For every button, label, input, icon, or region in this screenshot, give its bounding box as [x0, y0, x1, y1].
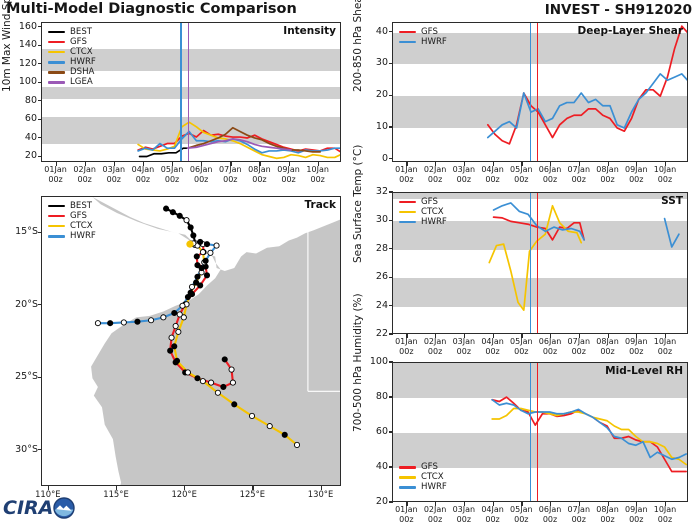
track-marker-filled: [204, 242, 209, 247]
y-tick-label: 40: [14, 132, 37, 143]
legend-label: HWRF: [421, 38, 447, 47]
track-map-area[interactable]: Track BESTGFSCTCXHWRF: [41, 196, 341, 486]
track-marker-hollow: [184, 218, 189, 223]
sst-panel-tag: SST: [661, 195, 683, 207]
x-tick-mark: [608, 502, 609, 506]
legend-entry-hwrf: HWRF: [48, 232, 96, 242]
series-line-hwrf-late: [665, 219, 679, 247]
x-tick-mark: [318, 162, 319, 166]
current-position-marker: [186, 241, 193, 248]
y-tick-label: 80: [365, 391, 388, 402]
track-marker-filled: [174, 358, 179, 363]
track-marker-filled: [203, 258, 208, 263]
intensity-plot-area[interactable]: Intensity BESTGFSCTCXHWRFDSHALGEA: [41, 22, 341, 162]
x-tick-mark: [406, 334, 407, 338]
x-tick-mark: [435, 502, 436, 506]
x-tick-mark: [521, 334, 522, 338]
track-panel-tag: Track: [305, 199, 336, 211]
y-tick-label: 60: [14, 113, 37, 124]
track-marker-hollow: [229, 367, 234, 372]
vertical-reference-line: [530, 193, 531, 333]
track-legend: BESTGFSCTCXHWRF: [48, 201, 96, 242]
y-tick-mark: [389, 63, 393, 64]
legend-entry-best: BEST: [48, 27, 96, 37]
x-tick-mark: [259, 162, 260, 166]
x-tick-mark: [435, 162, 436, 166]
x-tick-mark: [464, 334, 465, 338]
x-tick-mark: [579, 162, 580, 166]
track-marker-filled: [221, 384, 226, 389]
x-tick-label: 10Jan00z: [645, 337, 685, 357]
legend-label: GFS: [421, 28, 438, 37]
x-tick-mark: [230, 162, 231, 166]
track-marker-filled: [177, 213, 182, 218]
longitude-tick-mark: [48, 486, 49, 490]
y-tick-label: 20: [365, 89, 388, 100]
legend-entry-ctcx: CTCX: [48, 221, 96, 231]
x-tick-mark: [521, 162, 522, 166]
track-marker-filled: [108, 321, 113, 326]
landmass-shape: [91, 197, 341, 486]
track-marker-hollow: [148, 318, 153, 323]
x-tick-mark: [493, 334, 494, 338]
y-tick-mark: [389, 126, 393, 127]
track-marker-hollow: [185, 370, 190, 375]
x-tick-label: 10Jan00z: [645, 505, 685, 525]
longitude-tick-mark: [184, 486, 185, 490]
y-tick-mark: [38, 45, 42, 46]
legend-label: DSHA: [70, 68, 94, 77]
y-tick-label: 24: [365, 300, 388, 311]
sst-plot-area[interactable]: SST GFSCTCXHWRF: [392, 192, 688, 334]
track-marker-hollow: [249, 413, 254, 418]
shear-panel-tag: Deep-Layer Shear: [577, 25, 683, 37]
y-tick-mark: [389, 158, 393, 159]
latitude-tick-mark: [38, 377, 42, 378]
y-tick-label: 10: [365, 121, 388, 132]
y-tick-label: 0: [365, 153, 388, 164]
x-tick-mark: [464, 162, 465, 166]
legend-label: LGEA: [70, 78, 93, 87]
y-tick-label: 32: [365, 186, 388, 197]
longitude-tick-label: 130°E: [299, 489, 343, 499]
intensity-legend: BESTGFSCTCXHWRFDSHALGEA: [48, 27, 96, 88]
y-tick-label: 20: [365, 496, 388, 507]
x-tick-mark: [172, 162, 173, 166]
legend-label: GFS: [421, 198, 438, 207]
latitude-tick-mark: [38, 449, 42, 450]
y-tick-label: 100: [365, 356, 388, 367]
legend-entry-hwrf: HWRF: [399, 483, 447, 493]
x-tick-mark: [493, 502, 494, 506]
y-tick-label: 28: [365, 243, 388, 254]
legend-entry-gfs: GFS: [399, 27, 447, 37]
track-marker-filled: [222, 357, 227, 362]
longitude-tick-mark: [116, 486, 117, 490]
vertical-reference-line: [537, 363, 538, 501]
series-line-hwrf: [488, 74, 688, 138]
longitude-tick-mark: [321, 486, 322, 490]
y-tick-mark: [38, 63, 42, 64]
track-marker-hollow: [208, 380, 213, 385]
y-tick-label: 100: [14, 76, 37, 87]
track-marker-filled: [188, 225, 193, 230]
y-tick-mark: [389, 248, 393, 249]
legend-label: CTCX: [70, 222, 93, 231]
x-tick-mark: [636, 162, 637, 166]
vertical-reference-line: [188, 23, 189, 161]
latitude-tick-label: 20°S: [8, 299, 38, 310]
legend-label: GFS: [421, 463, 438, 472]
legend-color-swatch: [48, 215, 65, 218]
y-tick-label: 30: [365, 214, 388, 225]
legend-entry-lgea: LGEA: [48, 78, 96, 88]
series-line-ctcx: [492, 409, 686, 465]
y-tick-mark: [38, 119, 42, 120]
y-tick-label: 120: [14, 58, 37, 69]
x-tick-mark: [114, 162, 115, 166]
track-marker-filled: [198, 239, 203, 244]
legend-label: BEST: [70, 28, 92, 37]
legend-entry-gfs: GFS: [48, 37, 96, 47]
track-marker-filled: [135, 319, 140, 324]
x-tick-mark: [435, 334, 436, 338]
track-marker-filled: [282, 432, 287, 437]
x-tick-mark: [289, 162, 290, 166]
y-tick-label: 20: [14, 150, 37, 161]
y-tick-mark: [38, 156, 42, 157]
legend-color-swatch: [48, 41, 65, 44]
y-tick-mark: [389, 95, 393, 96]
legend-color-swatch: [399, 466, 416, 469]
longitude-tick-label: 120°E: [162, 489, 206, 499]
x-tick-mark: [143, 162, 144, 166]
y-tick-mark: [389, 305, 393, 306]
x-tick-mark: [608, 162, 609, 166]
y-tick-label: 160: [14, 21, 37, 32]
longitude-tick-label: 110°E: [26, 489, 70, 499]
track-marker-hollow: [294, 442, 299, 447]
y-tick-mark: [38, 26, 42, 27]
track-marker-hollow: [208, 250, 213, 255]
y-tick-mark: [389, 501, 393, 502]
x-tick-mark: [464, 502, 465, 506]
storm-id-title: INVEST - SH912020: [545, 2, 692, 18]
longitude-tick-label: 125°E: [230, 489, 274, 499]
track-marker-hollow: [176, 329, 181, 334]
legend-entry-ctcx: CTCX: [399, 207, 447, 217]
latitude-tick-label: 25°S: [8, 371, 38, 382]
track-marker-filled: [172, 344, 177, 349]
legend-color-swatch: [399, 476, 416, 479]
svg-text:CIRA: CIRA: [3, 497, 53, 519]
rh-panel-tag: Mid-Level RH: [605, 365, 683, 377]
x-tick-mark: [579, 502, 580, 506]
y-tick-mark: [389, 333, 393, 334]
y-tick-label: 26: [365, 271, 388, 282]
track-marker-hollow: [180, 303, 185, 308]
legend-color-swatch: [48, 205, 65, 208]
latitude-tick-label: 15°S: [8, 226, 38, 237]
legend-entry-gfs: GFS: [399, 197, 447, 207]
legend-color-swatch: [399, 211, 416, 214]
track-marker-hollow: [200, 379, 205, 384]
legend-color-swatch: [48, 61, 65, 64]
track-marker-filled: [193, 280, 198, 285]
legend-label: CTCX: [421, 473, 444, 482]
legend-label: CTCX: [70, 48, 93, 57]
track-marker-filled: [199, 265, 204, 270]
legend-label: HWRF: [70, 58, 96, 67]
x-tick-mark: [56, 162, 57, 166]
x-tick-mark: [521, 502, 522, 506]
legend-label: GFS: [70, 212, 87, 221]
y-tick-label: 40: [365, 461, 388, 472]
latitude-tick-mark: [38, 232, 42, 233]
y-tick-mark: [389, 191, 393, 192]
y-tick-mark: [389, 396, 393, 397]
legend-label: HWRF: [70, 232, 96, 241]
legend-entry-ctcx: CTCX: [48, 47, 96, 57]
longitude-tick-label: 115°E: [94, 489, 138, 499]
x-tick-mark: [665, 502, 666, 506]
latitude-tick-mark: [38, 304, 42, 305]
x-tick-mark: [665, 334, 666, 338]
diagnostic-comparison-figure: Multi-Model Diagnostic Comparison INVEST…: [0, 0, 700, 525]
track-marker-filled: [191, 233, 196, 238]
track-marker-filled: [170, 210, 175, 215]
series-line-hwrf: [494, 203, 585, 240]
x-tick-mark: [85, 162, 86, 166]
track-marker-hollow: [189, 284, 194, 289]
track-marker-filled: [172, 310, 177, 315]
legend-color-swatch: [48, 235, 65, 238]
legend-label: BEST: [70, 202, 92, 211]
legend-entry-gfs: GFS: [399, 462, 447, 472]
track-marker-hollow: [230, 380, 235, 385]
vertical-reference-line: [180, 23, 181, 161]
y-tick-mark: [389, 220, 393, 221]
legend-color-swatch: [399, 486, 416, 489]
legend-label: CTCX: [421, 208, 444, 217]
y-tick-label: 22: [365, 328, 388, 339]
track-marker-hollow: [121, 320, 126, 325]
legend-entry-dsha: DSHA: [48, 68, 96, 78]
legend-label: HWRF: [421, 483, 447, 492]
series-line-ctcx: [489, 206, 581, 310]
track-marker-filled: [168, 348, 173, 353]
y-tick-label: 60: [365, 426, 388, 437]
latitude-tick-label: 30°S: [8, 444, 38, 455]
vertical-reference-line: [530, 23, 531, 161]
x-tick-mark: [636, 502, 637, 506]
x-tick-mark: [608, 334, 609, 338]
x-tick-label: 10Jan00z: [298, 165, 338, 185]
y-tick-mark: [389, 277, 393, 278]
legend-entry-ctcx: CTCX: [399, 473, 447, 483]
rh-legend: GFSCTCXHWRF: [399, 462, 447, 493]
y-tick-mark: [38, 100, 42, 101]
y-tick-mark: [389, 466, 393, 467]
x-tick-mark: [550, 162, 551, 166]
x-tick-mark: [493, 162, 494, 166]
track-marker-hollow: [95, 321, 100, 326]
track-marker-filled: [232, 402, 237, 407]
legend-color-swatch: [48, 81, 65, 84]
track-marker-filled: [185, 294, 190, 299]
y-tick-mark: [38, 137, 42, 138]
legend-color-swatch: [399, 221, 416, 224]
vertical-reference-line: [537, 193, 538, 333]
track-marker-hollow: [181, 315, 186, 320]
y-tick-label: 40: [365, 26, 388, 37]
shear-plot-area[interactable]: Deep-Layer Shear GFSHWRF: [392, 22, 688, 162]
longitude-tick-mark: [252, 486, 253, 490]
legend-entry-hwrf: HWRF: [48, 58, 96, 68]
track-marker-hollow: [173, 323, 178, 328]
track-marker-hollow: [267, 424, 272, 429]
y-tick-mark: [389, 361, 393, 362]
vertical-reference-line: [530, 363, 531, 501]
x-tick-label: 10Jan00z: [645, 165, 685, 185]
x-tick-mark: [406, 162, 407, 166]
legend-color-swatch: [399, 31, 416, 34]
track-marker-hollow: [215, 390, 220, 395]
y-tick-mark: [38, 82, 42, 83]
legend-color-swatch: [48, 71, 65, 74]
legend-entry-hwrf: HWRF: [399, 217, 447, 227]
y-tick-label: 140: [14, 39, 37, 50]
track-marker-filled: [163, 206, 168, 211]
legend-label: GFS: [70, 38, 87, 47]
track-marker-hollow: [200, 250, 205, 255]
legend-color-swatch: [399, 41, 416, 44]
intensity-panel-tag: Intensity: [283, 25, 336, 37]
track-marker-hollow: [161, 315, 166, 320]
y-tick-label: 30: [365, 57, 388, 68]
x-tick-mark: [201, 162, 202, 166]
legend-label: HWRF: [421, 218, 447, 227]
x-tick-mark: [550, 334, 551, 338]
legend-entry-gfs: GFS: [48, 211, 96, 221]
vertical-reference-line: [537, 23, 538, 161]
x-tick-mark: [406, 502, 407, 506]
legend-color-swatch: [48, 225, 65, 228]
track-marker-filled: [195, 376, 200, 381]
legend-color-swatch: [48, 51, 65, 54]
x-tick-mark: [579, 334, 580, 338]
track-marker-hollow: [214, 243, 219, 248]
track-marker-filled: [204, 273, 209, 278]
x-tick-mark: [550, 502, 551, 506]
legend-color-swatch: [399, 201, 416, 204]
track-marker-hollow: [169, 335, 174, 340]
sst-legend: GFSCTCXHWRF: [399, 197, 447, 228]
legend-entry-hwrf: HWRF: [399, 37, 447, 47]
rh-plot-area[interactable]: Mid-Level RH GFSCTCXHWRF: [392, 362, 688, 502]
page-title: Multi-Model Diagnostic Comparison: [6, 1, 297, 17]
shear-legend: GFSHWRF: [399, 27, 447, 47]
y-tick-label: 80: [14, 95, 37, 106]
y-tick-mark: [389, 31, 393, 32]
x-tick-mark: [665, 162, 666, 166]
track-marker-filled: [195, 274, 200, 279]
x-tick-mark: [636, 334, 637, 338]
y-tick-mark: [389, 431, 393, 432]
track-marker-filled: [194, 254, 199, 259]
legend-color-swatch: [48, 31, 65, 34]
legend-entry-best: BEST: [48, 201, 96, 211]
